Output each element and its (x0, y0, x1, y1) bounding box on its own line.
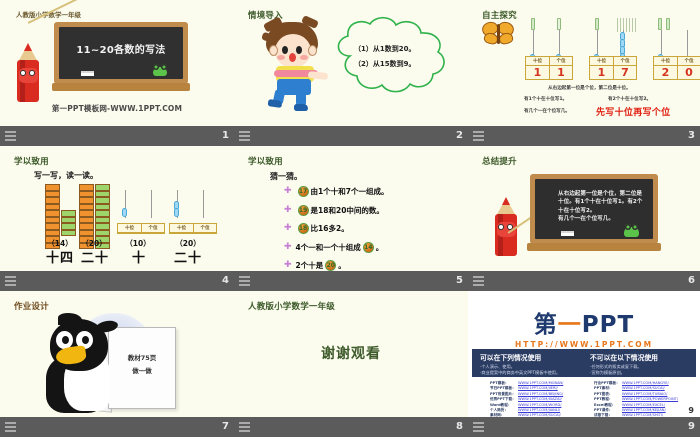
speech-cloud-icon: （1）从1数到20。 （2）从15数到9。 (326, 14, 452, 98)
place-value-group-10: 十位 个位 (116, 190, 164, 234)
slide-canvas-3[interactable]: 自主探究 十位 1 个 (468, 0, 700, 126)
frog-icon (624, 227, 639, 237)
table-header-ones: 个位 (614, 57, 636, 66)
list-item-text: 。 (376, 242, 384, 253)
pencil-character-icon (10, 44, 46, 106)
cloud-line-1: （1）从1数到20。 (354, 44, 446, 54)
slide-canvas-7[interactable]: 作业设计 教材75页 做一做 (0, 291, 234, 417)
slide-list-icon (5, 131, 16, 142)
table-value-tens: 2 (654, 66, 677, 79)
place-value-group-1: 十位 1 个位 1 (524, 18, 572, 80)
pencil-character-icon (488, 198, 524, 260)
table-value-ones: 7 (614, 66, 636, 79)
slide-canvas-4[interactable]: 学以致用 写一写，读一读。 (0, 146, 234, 271)
slide-cell-9[interactable]: 第一PPT HTTP://WWW.1PPT.COM 可以在下列情况使用 ·个人演… (468, 291, 700, 437)
slide-list-icon (5, 276, 16, 287)
thumbnail-footer-8: 8 (234, 417, 468, 437)
blackboard-icon: 11~20各数的写法 (54, 22, 188, 84)
girl-character-icon (262, 18, 330, 110)
slide-cell-4[interactable]: 学以致用 写一写，读一读。 (0, 146, 234, 291)
usage-denied-line-2: ·宣称为模板原创。 (590, 370, 690, 376)
page-title: 学以致用 (14, 155, 49, 167)
slide-number: 8 (456, 422, 463, 432)
resource-links-panel: PPT模板：WWW.1PPT.COM/MOBAN/ 节日PPT模板：WWW.1P… (472, 379, 696, 413)
slide-list-icon (473, 131, 484, 142)
logo-tail: PPT (582, 312, 634, 338)
list-item-text: 是18和20中间的数。 (311, 205, 384, 216)
note-line-2: 有1个十在十位写1。 (524, 96, 567, 102)
penguin-icon (42, 319, 120, 409)
place-value-table: 十位 1 个位 7 (589, 56, 637, 80)
table-header-tens: 十位 (590, 57, 613, 66)
slide-number: 6 (688, 276, 695, 286)
list-item-text: 比16多2。 (311, 223, 349, 234)
eraser-icon (561, 231, 574, 236)
slide-canvas-5[interactable]: 学以致用 猜一猜。 ✚ 17 由1个十和7个一组成。 ✚ 19 是18和20中间… (234, 146, 468, 271)
usage-allowed-title: 可以在下列情况使用 (480, 352, 580, 362)
page-title: 总结提升 (482, 155, 517, 167)
butterfly-icon (482, 22, 516, 48)
board-text: 从右边起第一位是个位，第二位是十位。有1个十在十位写1。有2个十在十位写2。 有… (558, 190, 645, 224)
answer-chip: 17 (298, 186, 309, 197)
logo-dash: 一 (558, 312, 582, 338)
slide-cell-8[interactable]: 人教版小学数学一年级 谢谢观看 8 (234, 291, 468, 437)
slide-number: 2 (456, 131, 463, 141)
eraser-icon (81, 71, 94, 76)
note-line-1: 从右边起第一位是个位，第二位是十位。 (548, 85, 631, 91)
answer-chip: 20 (325, 260, 336, 271)
list-item: ✚ 17 由1个十和7个一组成。 (284, 186, 454, 197)
thumbnail-footer-2: 2 (234, 126, 468, 146)
bullet-list: ✚ 17 由1个十和7个一组成。 ✚ 19 是18和20中间的数。 ✚ 18 比… (284, 186, 454, 271)
place-value-group-2: 十位 1 个位 7 (588, 18, 636, 80)
links-column-right: 行业PPT模板：WWW.1PPT.COM/HANGYE/ PPT素材：WWW.1… (594, 381, 678, 417)
thanks-text: 谢谢观看 (234, 343, 468, 363)
list-item-text: 。 (338, 260, 346, 271)
slide-cell-7[interactable]: 作业设计 教材75页 做一做 7 (0, 291, 234, 437)
usage-denied-title: 不可以在以下情况使用 (590, 352, 690, 362)
page-title: 作业设计 (14, 300, 49, 312)
usage-band: 可以在下列情况使用 ·个人演示、使用。 ·商业提案中的商务中英文PPT模板中使用… (472, 349, 696, 377)
plus-bullet-icon: ✚ (284, 261, 292, 270)
plus-bullet-icon: ✚ (284, 243, 292, 252)
place-value-group-3: 十位 2 个位 0 (652, 18, 700, 80)
table-header-ones: 个位 (550, 57, 572, 66)
chalk-title: 11~20各数的写法 (59, 41, 183, 56)
answer-chip: 14 (363, 242, 374, 253)
table-header-tens: 十位 (526, 57, 549, 66)
slide-cell-5[interactable]: 学以致用 猜一猜。 ✚ 17 由1个十和7个一组成。 ✚ 19 是18和20中间… (234, 146, 468, 291)
slide-list-icon (239, 276, 250, 287)
slide-cell-2[interactable]: 情境导入 (234, 0, 468, 146)
table-header-ones: 个位 (678, 57, 700, 66)
note-line-3: 有2个十在十位写2。 (608, 96, 651, 102)
slide-subtitle: 写一写，读一读。 (34, 170, 98, 181)
table-value-tens: 1 (526, 66, 549, 79)
thumbnail-footer-3: 3 (468, 126, 700, 146)
thumbnail-footer-4: 4 (0, 271, 234, 291)
list-item-prefix: 4个一和一个十组成 (296, 242, 361, 253)
answer-chip: 18 (298, 223, 309, 234)
thumbnail-footer-6: 6 (468, 271, 700, 291)
slide-footer-text: 第一PPT模板网-WWW.1PPT.COM (0, 103, 234, 114)
slide-thumbnail-grid: 人教版小学数学一年级 11~20各数的写法 第一PPT模板网-WWW.1PPT.… (0, 0, 700, 437)
usage-allowed-line-2: ·商业提案中的商务中英文PPT模板中使用。 (480, 370, 580, 376)
brand-logo: 第一PPT HTTP://WWW.1PPT.COM (468, 305, 700, 349)
table-header-tens: 十位 (118, 224, 141, 233)
plus-bullet-icon: ✚ (284, 206, 292, 215)
brand-url: HTTP://WWW.1PPT.COM (468, 340, 700, 349)
emphasis-note: 先写十位再写个位 (596, 105, 670, 118)
slide-header-text: 人教版小学数学一年级 (248, 300, 335, 312)
note-line-4: 有几个一在个位写几。 (524, 108, 570, 114)
slide-number: 9 (688, 422, 695, 432)
list-item-prefix: 2个十是 (296, 260, 324, 271)
table-header-ones: 个位 (194, 224, 216, 233)
list-item: ✚ 18 比16多2。 (284, 223, 454, 234)
slide-page-number: 9 (688, 406, 694, 415)
table-value-ones: 1 (550, 66, 572, 79)
plus-bullet-icon: ✚ (284, 224, 292, 233)
slide-list-icon (473, 276, 484, 287)
place-value-group-20: 十位 个位 (168, 190, 216, 234)
bar-block-icon (61, 210, 76, 236)
place-value-table: 十位 2 个位 0 (653, 56, 700, 80)
list-item: ✚ 4个一和一个十组成 14 。 (284, 242, 454, 253)
slide-number: 5 (456, 276, 463, 286)
reading-label-3: 十 (117, 247, 161, 266)
slide-list-icon (239, 131, 250, 142)
slide-number: 4 (222, 276, 229, 286)
slide-canvas-2[interactable]: 情境导入 (234, 0, 468, 126)
slide-canvas-1[interactable]: 人教版小学数学一年级 11~20各数的写法 第一PPT模板网-WWW.1PPT.… (0, 0, 234, 126)
cloud-line-2: （2）从15数到9。 (354, 59, 446, 69)
page-title: 学以致用 (248, 155, 283, 167)
thumbnail-footer-5: 5 (234, 271, 468, 291)
list-item-text: 由1个十和7个一组成。 (311, 186, 389, 197)
slide-list-icon (239, 422, 250, 433)
slide-canvas-8[interactable]: 人教版小学数学一年级 谢谢观看 (234, 291, 468, 417)
slide-cell-6[interactable]: 总结提升 从右边起第一位是个位，第二位是十位。有1个十在十位写1。有2个十在十位… (468, 146, 700, 291)
table-header-tens: 十位 (170, 224, 193, 233)
reading-label-2: 二十 (73, 247, 117, 266)
slide-subtitle: 猜一猜。 (270, 171, 302, 182)
reading-label-4: 二十 (164, 247, 212, 266)
thumbnail-footer-9: 9 (468, 417, 700, 437)
slide-number: 7 (222, 422, 229, 432)
table-header-tens: 十位 (654, 57, 677, 66)
links-column-left: PPT模板：WWW.1PPT.COM/MOBAN/ 节日PPT模板：WWW.1P… (490, 381, 563, 417)
table-value-tens: 1 (590, 66, 613, 79)
list-item: ✚ 19 是18和20中间的数。 (284, 205, 454, 216)
thumbnail-footer-1: 1 (0, 126, 234, 146)
plus-bullet-icon: ✚ (284, 187, 292, 196)
slide-cell-1[interactable]: 人教版小学数学一年级 11~20各数的写法 第一PPT模板网-WWW.1PPT.… (0, 0, 234, 146)
frog-icon (153, 67, 167, 76)
table-header-ones: 个位 (142, 224, 164, 233)
answer-chip: 19 (298, 205, 309, 216)
slide-canvas-6[interactable]: 总结提升 从右边起第一位是个位，第二位是十位。有1个十在十位写1。有2个十在十位… (468, 146, 700, 271)
place-value-table: 十位 1 个位 1 (525, 56, 573, 80)
table-value-ones: 0 (678, 66, 700, 79)
slide-number: 1 (222, 131, 229, 141)
slide-cell-3[interactable]: 自主探究 十位 1 个 (468, 0, 700, 146)
logo-char-1: 第 (534, 312, 558, 338)
slide-number: 3 (688, 131, 695, 141)
page-title: 自主探究 (482, 9, 517, 21)
slide-list-icon (473, 422, 484, 433)
slide-list-icon (5, 422, 16, 433)
list-item: ✚ 2个十是 20 。 (284, 260, 454, 271)
slide-canvas-9[interactable]: 第一PPT HTTP://WWW.1PPT.COM 可以在下列情况使用 ·个人演… (468, 291, 700, 417)
blackboard-icon: 从右边起第一位是个位，第二位是十位。有1个十在十位写1。有2个十在十位写2。 有… (530, 174, 658, 244)
thumbnail-footer-7: 7 (0, 417, 234, 437)
